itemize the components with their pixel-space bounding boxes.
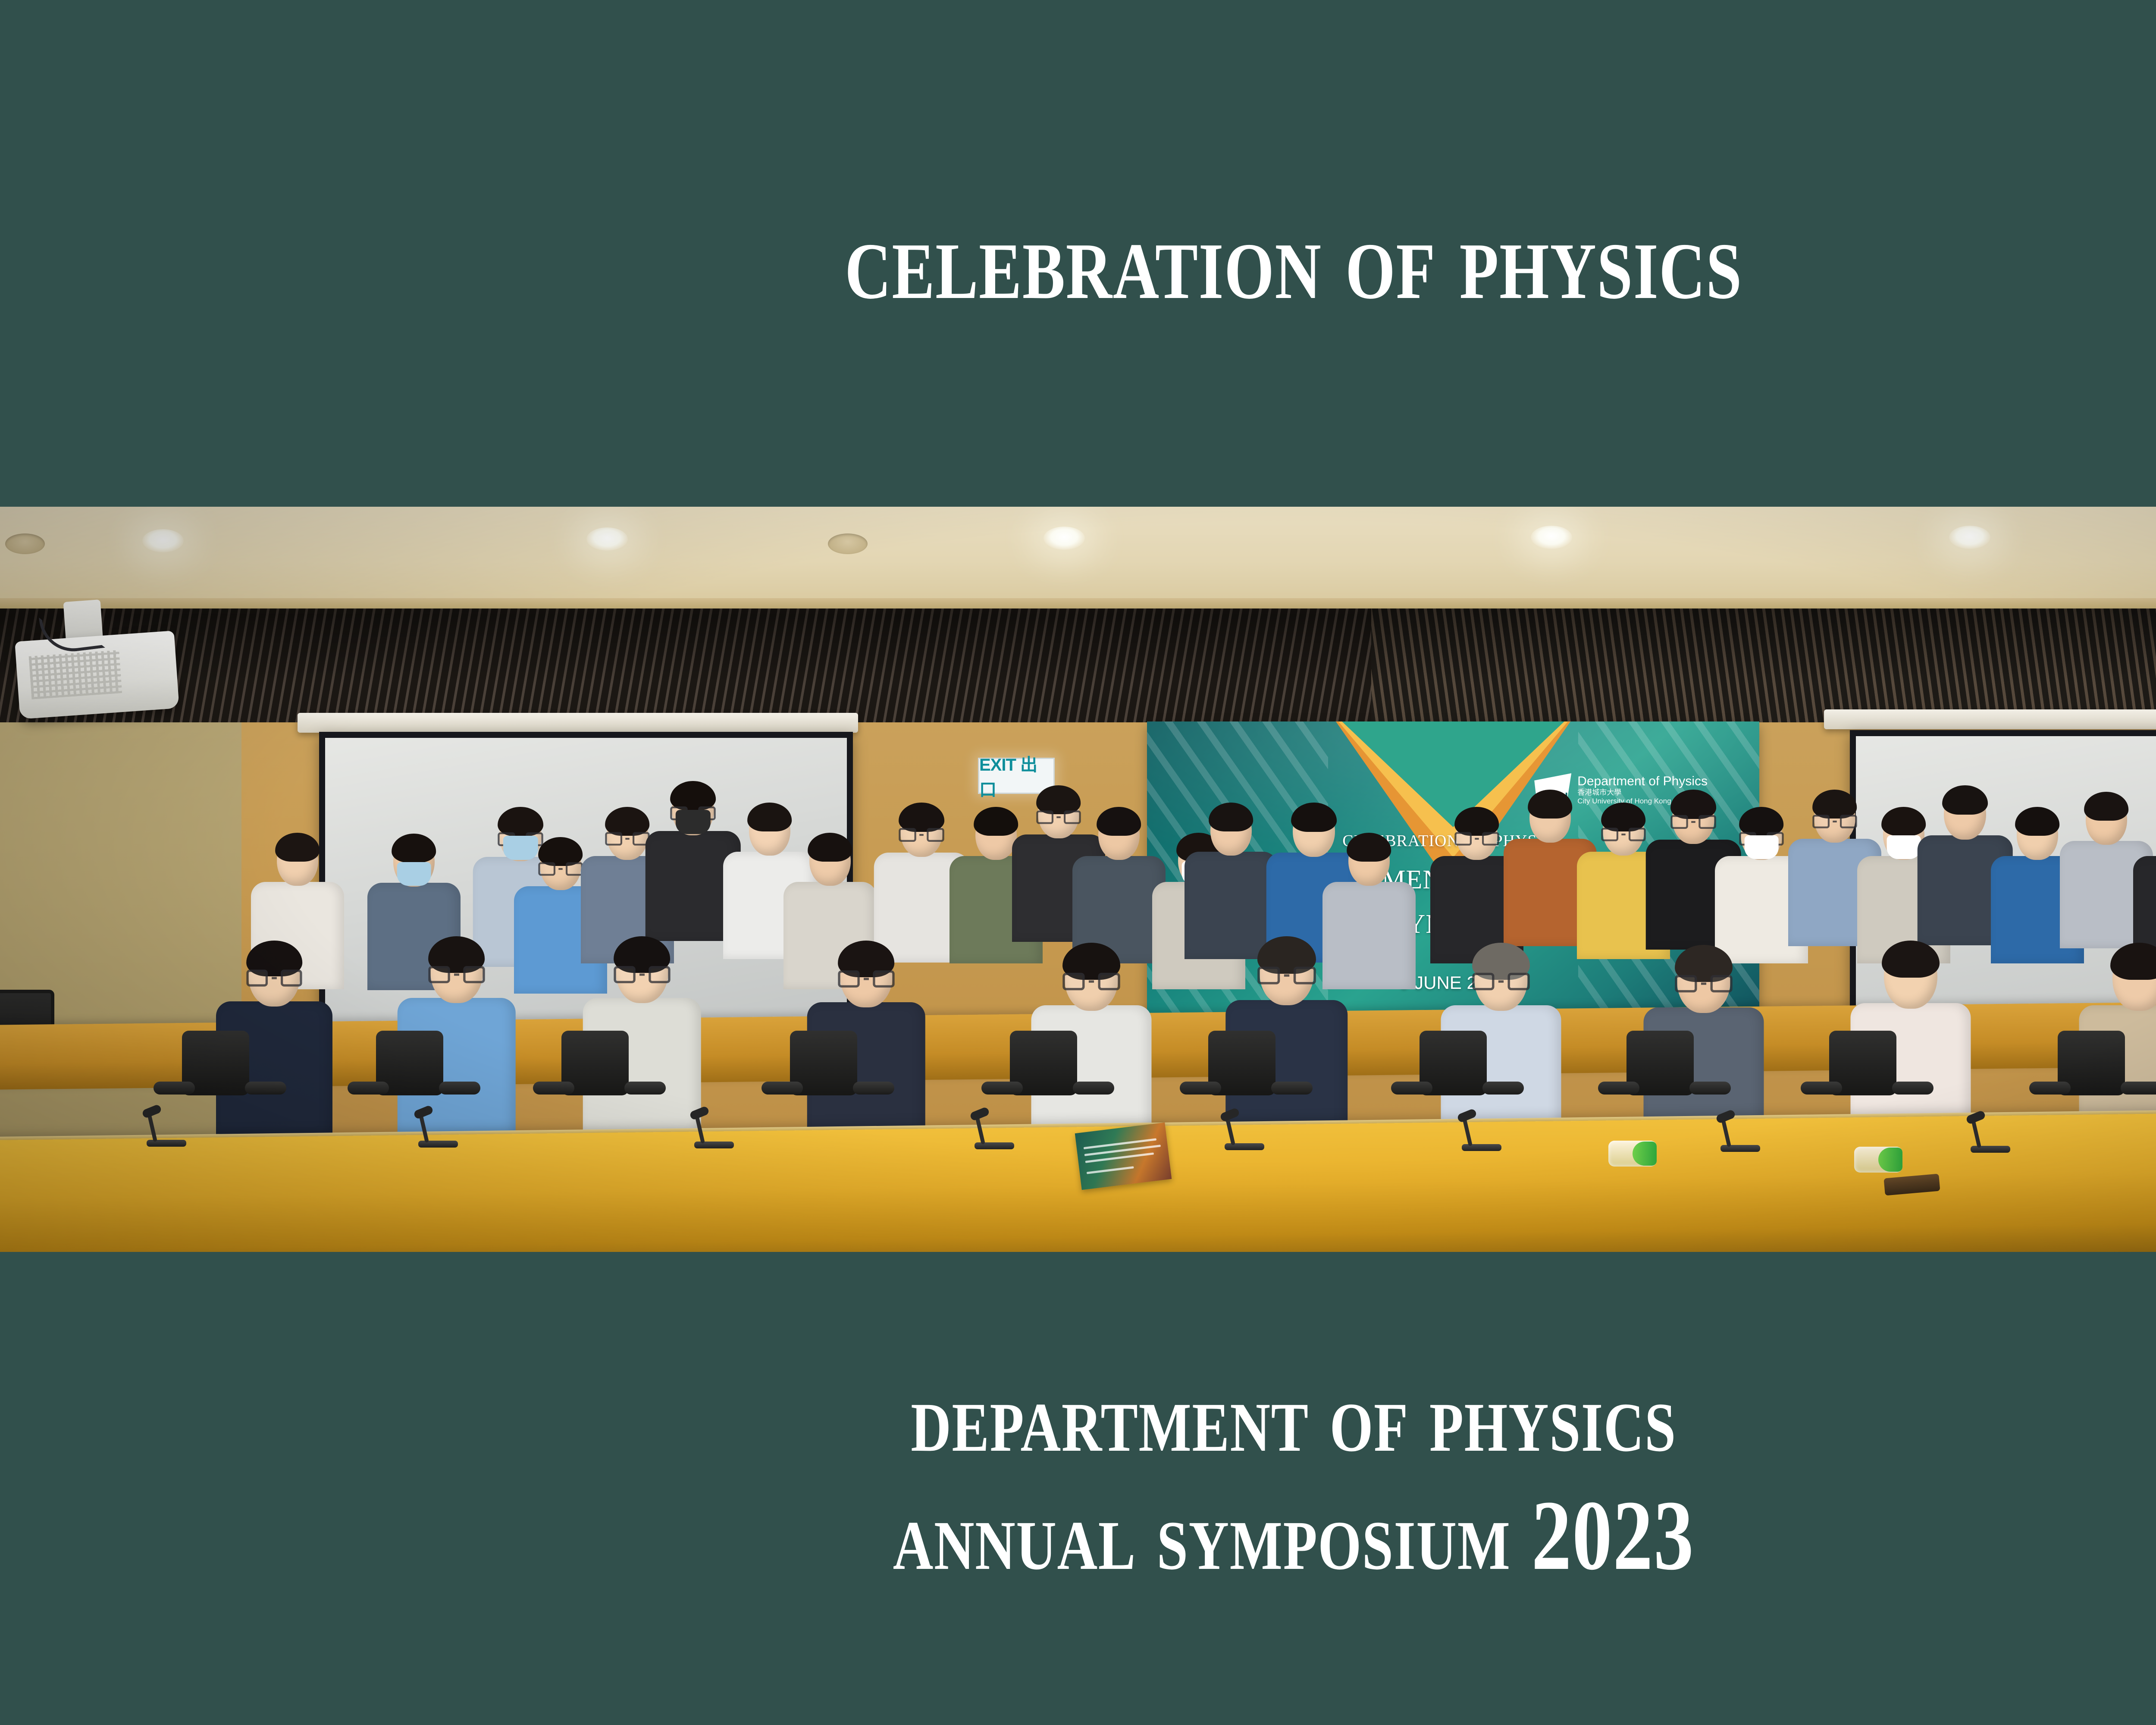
table-microphone [1716, 1112, 1772, 1152]
water-bottle [1608, 1141, 1673, 1167]
chair-armrest-left [1180, 1082, 1221, 1095]
exit-sign: EXIT 出口 [978, 758, 1055, 794]
logo-dept-line: Department of Physics [1577, 774, 1708, 788]
bridge [1692, 821, 1696, 823]
eyeglasses [1472, 973, 1529, 990]
subtitle-line-2: Annual Symposium 2023 [259, 1477, 2156, 1595]
lens-right [1840, 815, 1857, 828]
mic-stem [1462, 1118, 1473, 1146]
table-microphone [970, 1110, 1026, 1149]
eyeglasses [1257, 966, 1316, 984]
bridge [1475, 838, 1479, 840]
bridge [1498, 980, 1504, 982]
chair-armrest-right [2121, 1082, 2156, 1095]
lens-left [428, 966, 450, 983]
lens-left [1812, 815, 1830, 828]
bridge [864, 978, 869, 980]
projector-vents [29, 650, 122, 699]
lens-left [1601, 828, 1618, 841]
mic-stem [975, 1116, 985, 1145]
mic-base [975, 1142, 1014, 1149]
eyeglasses [1454, 832, 1499, 845]
bridge [1621, 834, 1625, 835]
person-torso [1322, 882, 1416, 990]
lens-left [538, 862, 555, 875]
chair-armrest-right [245, 1082, 286, 1095]
group-photo: EXIT 出口 CityU Department of Physics 香港城市… [0, 507, 2156, 1252]
lens-right [649, 966, 670, 983]
lens-right [1711, 975, 1733, 992]
office-chair [1811, 1031, 1915, 1117]
chair-armrest-left [761, 1082, 803, 1095]
subtitle-line-1: Department of Physics [259, 1358, 2156, 1477]
lens-right [463, 966, 485, 983]
office-chair [1608, 1031, 1712, 1117]
mic-base [418, 1141, 458, 1148]
lens-left [1671, 815, 1688, 829]
table-microphone [414, 1108, 470, 1148]
chair-armrest-right [439, 1082, 480, 1095]
bottle-label [1878, 1148, 1902, 1172]
mic-base [1225, 1143, 1264, 1150]
water-bottle [1854, 1147, 1919, 1173]
left-screen-roller [298, 713, 858, 733]
mic-stem [1225, 1117, 1235, 1145]
mic-stem [147, 1113, 157, 1142]
page-title: Celebration of Physics [259, 203, 2156, 317]
chair-armrest-left [348, 1082, 389, 1095]
lens-left [1472, 973, 1494, 990]
office-chair [1401, 1031, 1505, 1117]
eyeglasses [1036, 810, 1081, 824]
lens-right [1508, 973, 1530, 990]
chair-armrest-right [853, 1082, 894, 1095]
chair-armrest-right [1892, 1082, 1934, 1095]
table-microphone [1966, 1113, 2022, 1153]
office-chair [772, 1031, 875, 1117]
eyeglasses [538, 862, 583, 875]
bridge [1701, 982, 1706, 985]
eyeglasses [1062, 973, 1120, 990]
lens-left [246, 970, 268, 987]
bottle-label [1633, 1142, 1657, 1166]
ceiling-light [142, 529, 184, 552]
bridge [454, 973, 459, 975]
eyeglasses [1601, 828, 1645, 841]
lens-left [614, 966, 635, 983]
person-torso [1185, 852, 1278, 960]
bridge [920, 834, 924, 836]
mic-stem [1971, 1120, 1981, 1148]
chair-armrest-left [1598, 1082, 1639, 1095]
chair-armrest-right [1482, 1082, 1524, 1095]
chair-armrest-right [624, 1082, 666, 1095]
event-booklet [1075, 1123, 1172, 1190]
ceiling-light [1949, 526, 1990, 549]
lens-right [873, 970, 894, 988]
bridge [1056, 816, 1060, 818]
subtitle-block: Department of Physics Annual Symposium 2… [259, 1358, 2156, 1595]
chair-armrest-left [154, 1082, 195, 1095]
eyeglasses [605, 832, 649, 845]
office-chair [992, 1031, 1095, 1117]
lens-right [1294, 966, 1316, 984]
office-chair [164, 1031, 267, 1117]
eyeglasses [428, 966, 485, 983]
chair-armrest-right [1271, 1082, 1313, 1095]
lens-left [1675, 975, 1697, 992]
eyeglasses [1812, 815, 1857, 828]
eyeglasses [838, 970, 894, 988]
chair-armrest-left [533, 1082, 574, 1095]
face-mask [1744, 835, 1778, 859]
chair-armrest-left [1801, 1082, 1842, 1095]
mic-stem [695, 1115, 705, 1144]
mic-base [1720, 1145, 1760, 1152]
eyeglasses [614, 966, 670, 983]
bridge [1089, 980, 1094, 982]
bridge [1833, 821, 1836, 822]
chair-armrest-right [1073, 1082, 1114, 1095]
eyeglasses [899, 828, 944, 842]
mic-base [147, 1140, 186, 1147]
poster-root: Celebration of Physics [0, 0, 2156, 1725]
face-mask [503, 836, 538, 860]
lens-right [1482, 832, 1499, 845]
chair-armrest-left [981, 1082, 1023, 1095]
lens-right [927, 828, 944, 842]
table-microphone [142, 1107, 198, 1147]
bridge [625, 838, 629, 840]
office-chair [543, 1031, 647, 1117]
bridge [558, 868, 562, 870]
lens-right [1699, 815, 1716, 829]
chair-armrest-left [2029, 1082, 2071, 1095]
table-microphone [690, 1109, 746, 1148]
eyeglasses [246, 970, 302, 987]
mic-base [1462, 1144, 1501, 1151]
lens-left [605, 832, 622, 845]
bridge [639, 973, 645, 975]
lens-left [899, 828, 916, 842]
face-mask [1887, 835, 1921, 859]
table-microphone [1220, 1110, 1276, 1150]
mic-stem [419, 1114, 429, 1143]
mic-stem [1721, 1119, 1731, 1147]
lens-right [1064, 810, 1081, 824]
ceiling-light [1044, 527, 1085, 550]
table-microphone [1457, 1111, 1514, 1151]
ceiling [0, 507, 2156, 606]
bridge [1284, 974, 1289, 976]
lens-right [1098, 973, 1120, 990]
face-mask [397, 862, 431, 886]
office-chair [2040, 1031, 2143, 1117]
mic-base [694, 1142, 734, 1148]
ceiling-vent [5, 533, 45, 554]
eyeglasses [1671, 815, 1716, 829]
lens-right [1629, 828, 1646, 841]
lens-right [566, 862, 583, 875]
mic-base [1971, 1146, 2010, 1153]
right-screen-roller [1824, 709, 2156, 729]
chair-armrest-right [1689, 1082, 1731, 1095]
office-chair [1190, 1031, 1294, 1117]
ceiling-light [1531, 526, 1572, 549]
ceiling-light [586, 527, 628, 551]
lens-right [281, 970, 302, 987]
ceiling-vent [828, 533, 868, 554]
eyeglasses [1675, 975, 1732, 992]
lens-left [1257, 966, 1280, 984]
lens-left [1062, 973, 1084, 990]
office-chair [358, 1031, 461, 1117]
face-mask [676, 810, 710, 834]
lens-left [1454, 832, 1472, 845]
lens-left [1036, 810, 1053, 824]
bridge [272, 977, 277, 979]
lens-left [838, 970, 859, 988]
booklet-line [1087, 1166, 1134, 1174]
chair-armrest-left [1391, 1082, 1432, 1095]
